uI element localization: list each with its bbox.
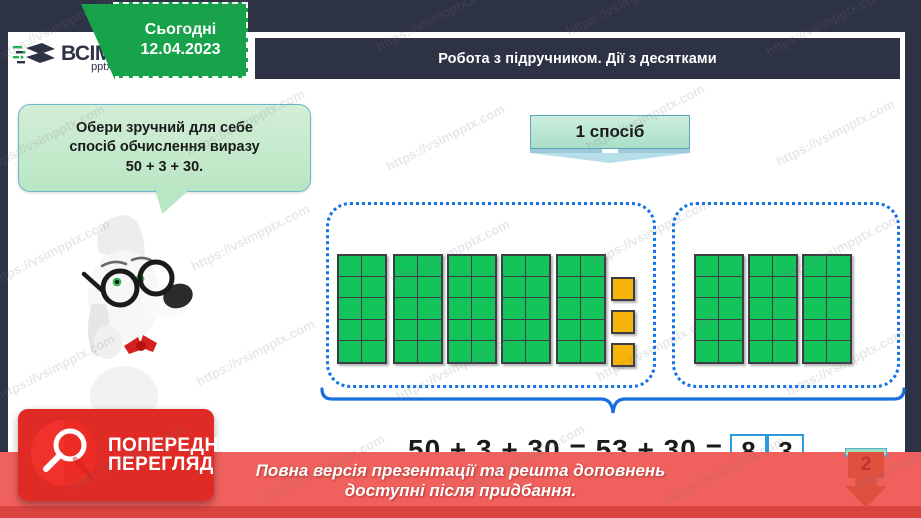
ten-block [501, 254, 551, 364]
ten-block [393, 254, 443, 364]
today-date-badge: Сьогодні 12.04.2023 [113, 2, 248, 78]
graduation-cap-icon [12, 40, 56, 77]
today-date: 12.04.2023 [140, 41, 220, 59]
promo-line-2: доступні після придбання. [345, 481, 576, 501]
slide-header-bar: Робота з підручником. Дії з десятками [255, 38, 900, 79]
page-number: 2 [845, 452, 887, 478]
preview-line-2: ПЕРЕГЛЯД [108, 455, 238, 474]
ten-block [748, 254, 798, 364]
instruction-line-1: Обери зручний для себе [76, 119, 253, 138]
instruction-line-3: 50 + 3 + 30. [126, 158, 203, 177]
preview-line-1: ПОПЕРЕДНІЙ [108, 436, 238, 455]
promo-banner-strip [0, 506, 921, 518]
instruction-speech-bubble: Обери зручний для себе спосіб обчислення… [18, 104, 311, 192]
unit-cube [611, 277, 635, 301]
ten-block [337, 254, 387, 364]
dog-with-glasses-character [62, 196, 212, 431]
unit-cube [611, 310, 635, 334]
instruction-line-2: спосіб обчислення виразу [69, 138, 259, 157]
today-label: Сьогодні [145, 21, 216, 39]
method-ribbon-tail [530, 149, 690, 163]
magnifier-icon [28, 417, 100, 494]
ten-block [694, 254, 744, 364]
ten-block [556, 254, 606, 364]
unit-cube [611, 343, 635, 367]
promo-line-1: Повна версія презентації та решта доповн… [256, 461, 666, 481]
slide-root: ВСІМ pptx Сьогодні 12.04.2023 Робота з п… [0, 0, 921, 518]
grouping-brace [320, 385, 906, 422]
ten-block [802, 254, 852, 364]
preview-badge-text: ПОПЕРЕДНІЙ ПЕРЕГЛЯД [108, 436, 238, 475]
method-ribbon: 1 спосіб [530, 115, 690, 149]
method-ribbon-label: 1 спосіб [576, 122, 645, 142]
ten-block [447, 254, 497, 364]
page-title: Робота з підручником. Дії з десятками [438, 51, 716, 67]
preview-badge[interactable]: ПОПЕРЕДНІЙ ПЕРЕГЛЯД [18, 409, 214, 501]
